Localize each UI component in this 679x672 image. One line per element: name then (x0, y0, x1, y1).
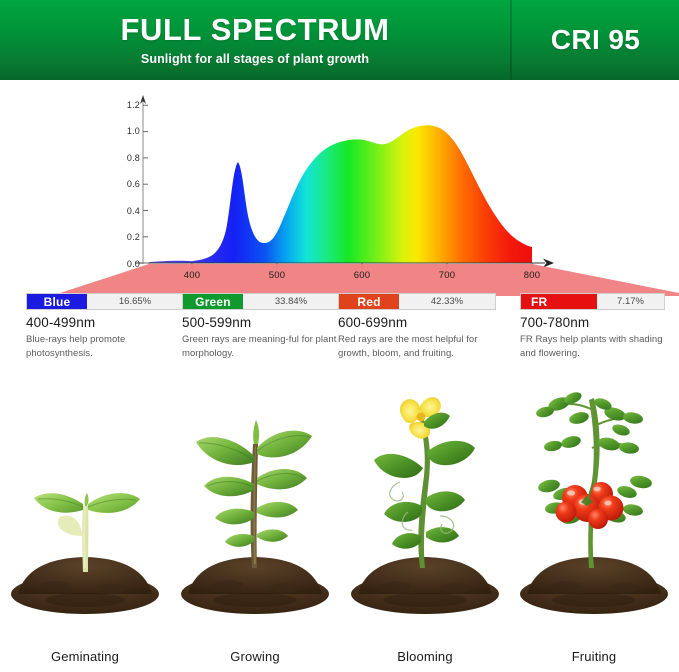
band-green-percent: 33.84% (243, 294, 339, 309)
x-tick-800: 800 (524, 270, 540, 281)
growth-stage-row: Geminating (0, 372, 679, 672)
band-green-chip: Green (183, 294, 243, 309)
apical-shoot (85, 493, 89, 506)
leaf (257, 469, 307, 489)
band-green-description: Green rays are meaning-ful for plant mor… (182, 333, 340, 361)
x-tick-600: 600 (354, 270, 370, 281)
band-green-range: 500-599nm (182, 315, 340, 330)
seedling-illustration (0, 386, 170, 626)
band-red-chip: Red (339, 294, 399, 309)
leaf (426, 527, 459, 542)
infographic-page: FULL SPECTRUM Sunlight for all stages of… (0, 0, 679, 672)
leaf (257, 529, 288, 541)
leaf (257, 431, 312, 458)
stem (418, 420, 430, 568)
header-banner: FULL SPECTRUM Sunlight for all stages of… (0, 0, 679, 80)
leaf (204, 477, 254, 497)
growth-stage-label-fruiting: Fruiting (509, 649, 679, 664)
spectral-curve-fill (150, 125, 533, 263)
band-blue-chip: Blue (27, 294, 87, 309)
leaf (426, 491, 465, 511)
growth-stage-label-blooming: Blooming (340, 649, 510, 664)
leaf-left (34, 493, 83, 513)
growth-stage-label-growing: Growing (170, 649, 340, 664)
leaf-right (88, 493, 140, 513)
band-green-badge: Green 33.84% (182, 293, 340, 310)
apical-shoot (253, 420, 259, 444)
band-fr: FR 7.17% 700-780nm FR Rays help plants w… (520, 293, 665, 361)
growth-stage-geminating: Geminating (0, 372, 170, 672)
x-tick-500: 500 (269, 270, 285, 281)
page-subtitle: Sunlight for all stages of plant growth (141, 52, 369, 66)
soil-top (527, 557, 661, 594)
growth-stage-label-geminating: Geminating (0, 649, 170, 664)
band-red-badge: Red 42.33% (338, 293, 496, 310)
band-red: Red 42.33% 600-699nm Red rays are the mo… (338, 293, 496, 361)
x-tick-400: 400 (184, 270, 200, 281)
spectrum-chart: 1.2 1.0 0.8 0.6 0.4 0.2 0.0 (0, 80, 679, 300)
cri-badge: CRI 95 (512, 0, 679, 80)
tomato-cluster (556, 482, 624, 529)
growth-stage-fruiting: Fruiting (509, 372, 679, 672)
band-blue-description: Blue-rays help promote photosynthesis. (26, 333, 184, 361)
leaf (225, 534, 254, 547)
leaf (374, 454, 423, 478)
y-tick-marks (143, 105, 148, 263)
band-fr-range: 700-780nm (520, 315, 665, 330)
band-blue-badge: Blue 16.65% (26, 293, 184, 310)
band-green: Green 33.84% 500-599nm Green rays are me… (182, 293, 340, 361)
band-fr-percent: 7.17% (597, 294, 664, 309)
wavelength-band-legend: Blue 16.65% 400-499nm Blue-rays help pro… (0, 293, 679, 365)
flowering-plant-illustration (340, 386, 510, 626)
x-tick-700: 700 (439, 270, 455, 281)
growth-stage-growing: Growing (170, 372, 340, 672)
band-red-range: 600-699nm (338, 315, 496, 330)
spectral-power-distribution-plot (0, 80, 679, 300)
fruiting-plant-illustration (509, 386, 679, 626)
band-blue-percent: 16.65% (87, 294, 183, 309)
leaf (427, 441, 475, 465)
band-fr-badge: FR 7.17% (520, 293, 665, 310)
vegetative-plant-illustration (170, 386, 340, 626)
band-fr-chip: FR (521, 294, 597, 309)
cotyledon (58, 516, 82, 537)
leaf (215, 509, 254, 525)
band-red-percent: 42.33% (399, 294, 495, 309)
leaf (392, 533, 421, 549)
growth-stage-blooming: Blooming (340, 372, 510, 672)
page-title: FULL SPECTRUM (121, 14, 390, 45)
soil-top (358, 557, 492, 594)
band-blue-range: 400-499nm (26, 315, 184, 330)
band-red-description: Red rays are the most helpful for growth… (338, 333, 496, 361)
band-blue: Blue 16.65% 400-499nm Blue-rays help pro… (26, 293, 184, 361)
leaf (196, 437, 254, 465)
leaf (257, 502, 298, 518)
cri-value: CRI 95 (551, 24, 641, 56)
band-fr-description: FR Rays help plants with shading and flo… (520, 333, 665, 361)
header-title-group: FULL SPECTRUM Sunlight for all stages of… (0, 0, 510, 80)
